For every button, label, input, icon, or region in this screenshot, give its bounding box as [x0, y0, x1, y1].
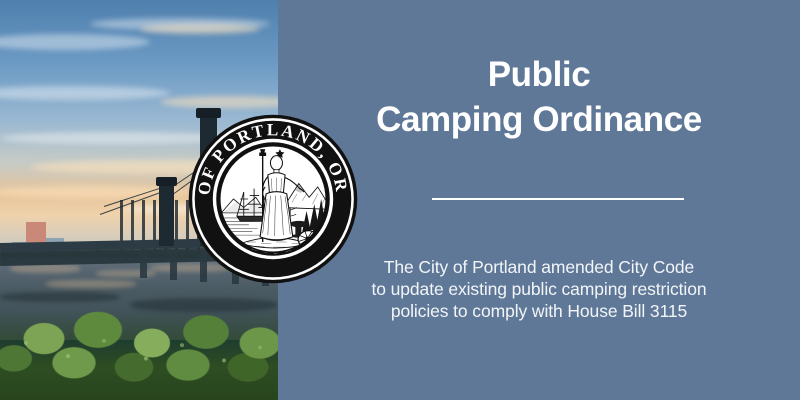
title-divider: [432, 198, 684, 200]
page-subtitle: The City of Portland amended City Code t…: [294, 256, 784, 322]
bridge-pier: [170, 250, 177, 280]
cloud: [140, 24, 260, 34]
tree-canopy: [0, 310, 278, 400]
water-reflection: [46, 280, 136, 288]
public-camping-ordinance-banner: Public Camping Ordinance The City of Por…: [0, 0, 800, 400]
bridge-pier: [140, 250, 147, 278]
tree-highlights: [0, 310, 278, 400]
foreground-trees: [0, 300, 278, 400]
city-of-portland-oregon-seal: CITY OF PORTLAND, OREGON 1851: [187, 113, 359, 285]
water-reflection: [96, 270, 156, 277]
